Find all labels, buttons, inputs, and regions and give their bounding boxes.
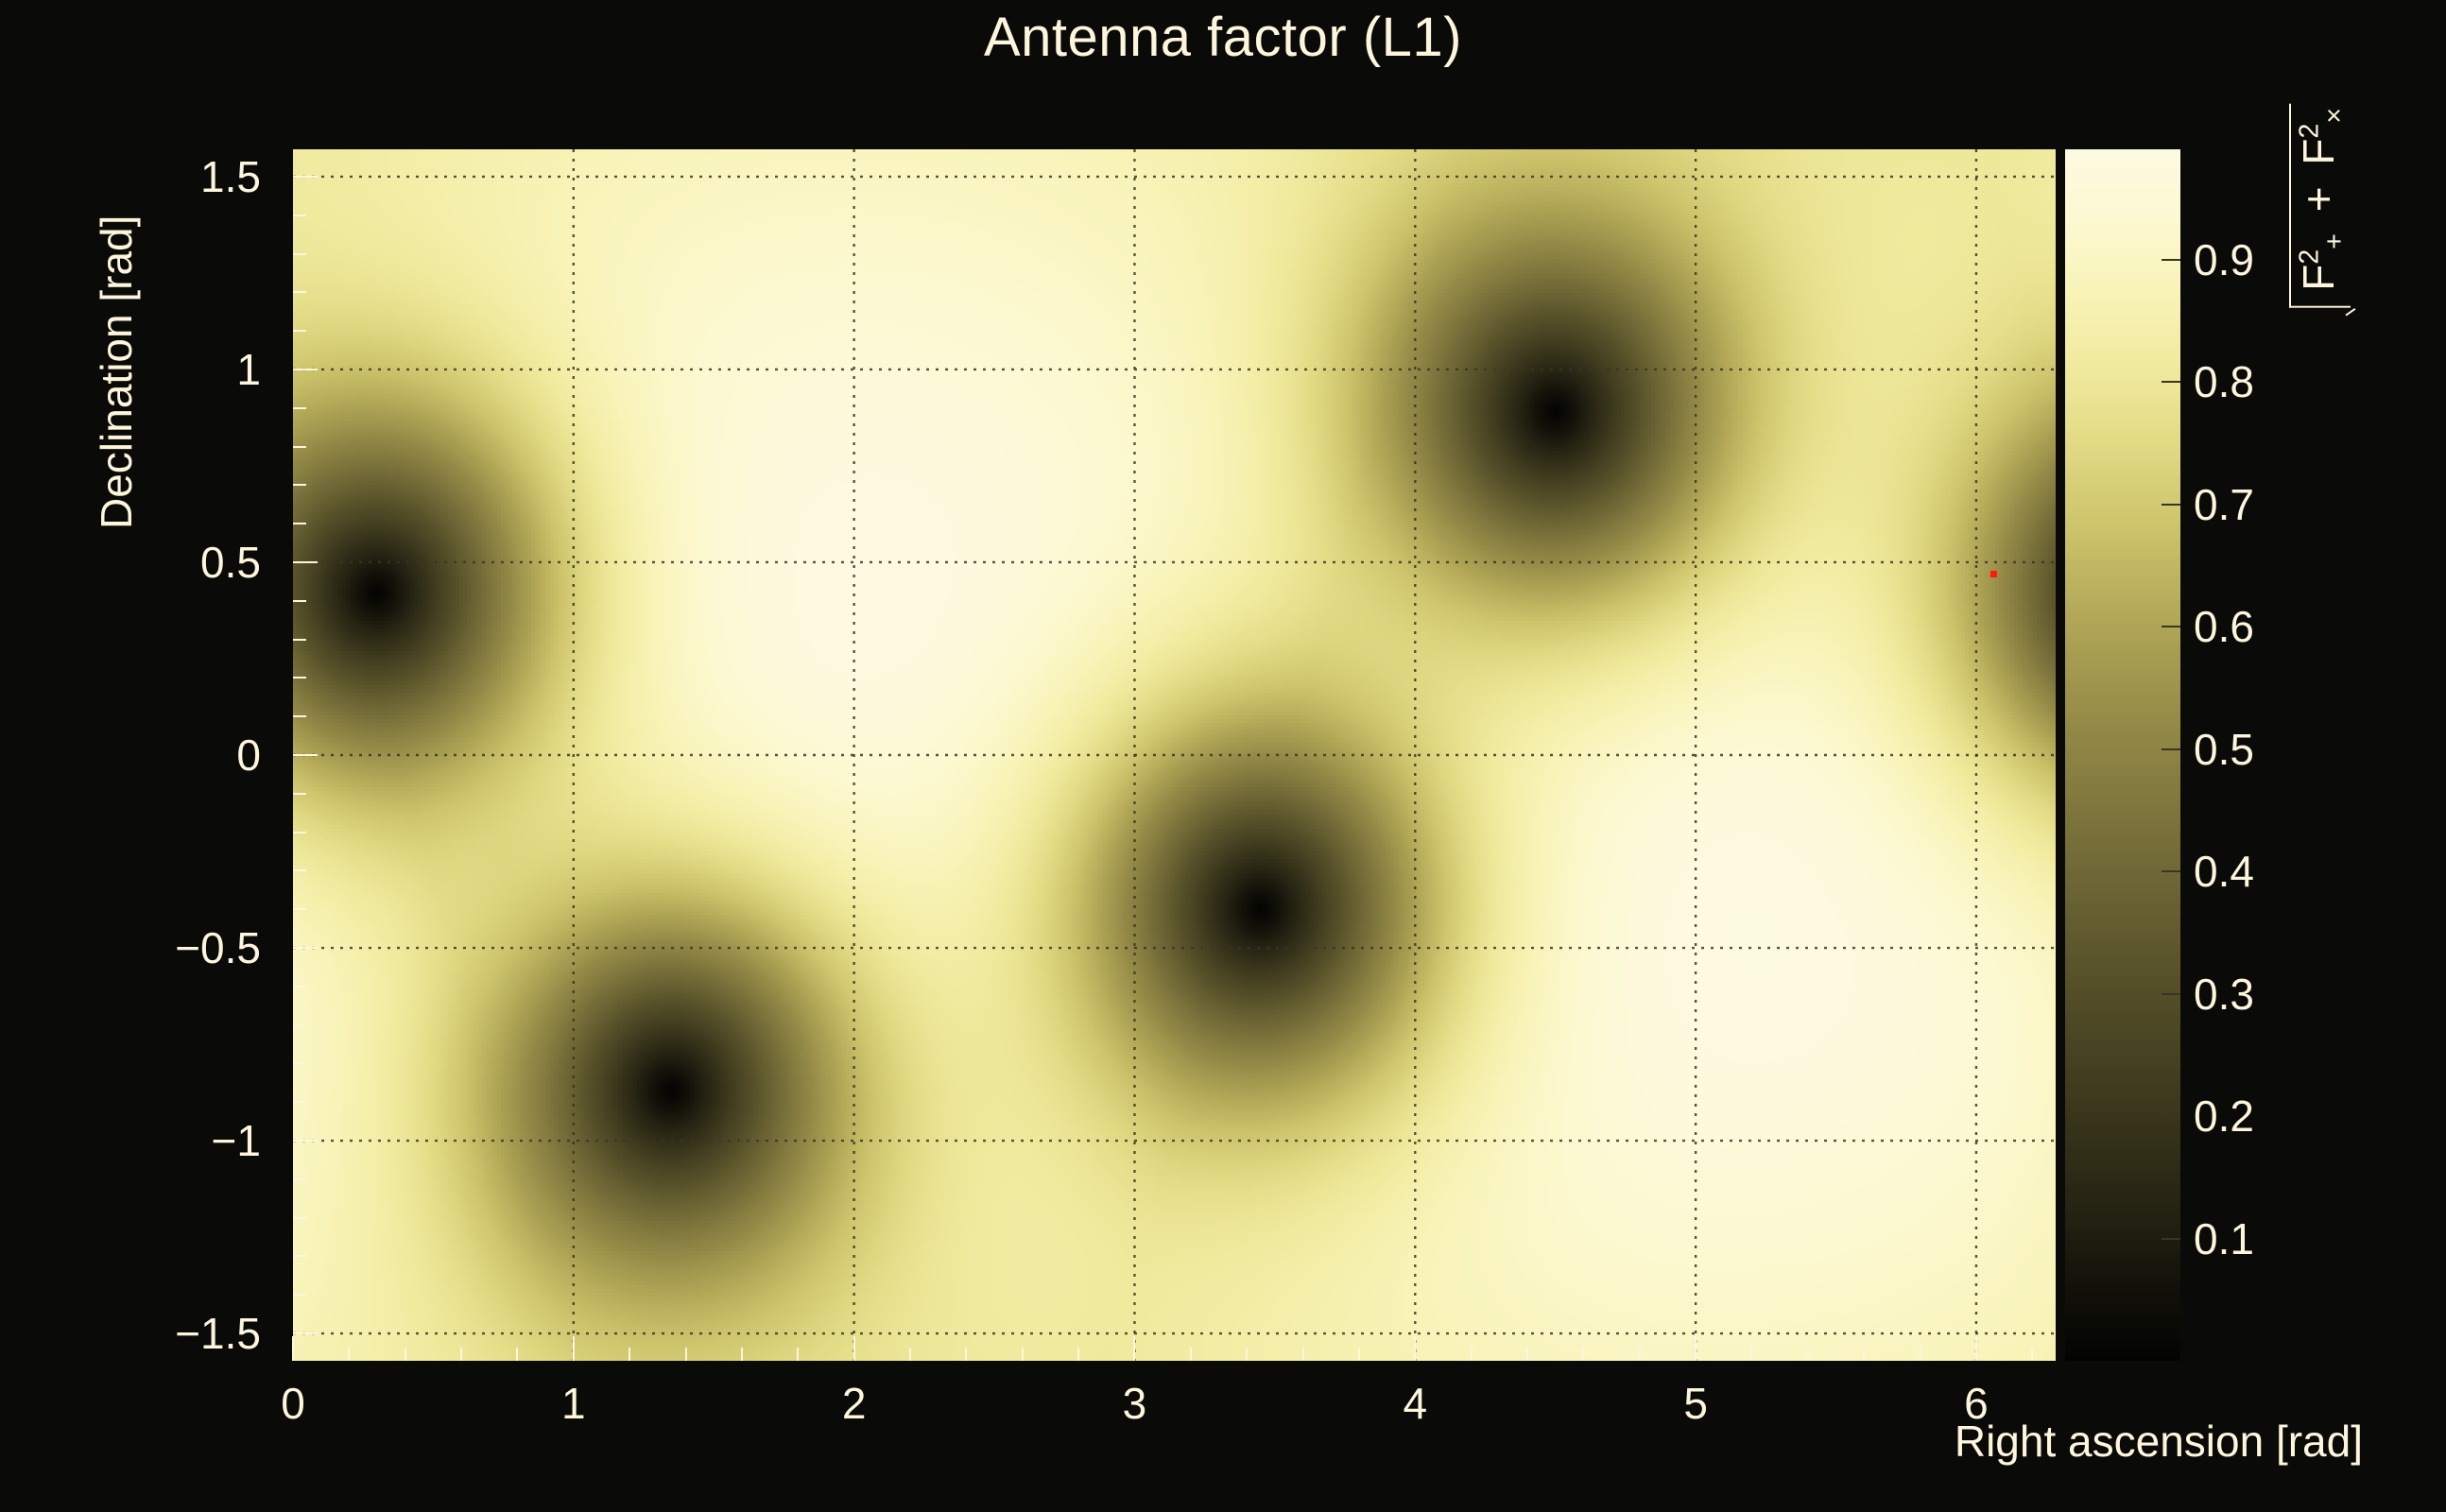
heatmap-image xyxy=(293,149,2056,1361)
y-axis-minor-tick xyxy=(293,291,306,293)
colorbar-axis-title: F2+ + F2× xyxy=(2287,104,2352,316)
y-axis-minor-tick xyxy=(293,908,306,910)
x-axis-tick-label: 5 xyxy=(1683,1378,1708,1429)
x-axis-minor-tick xyxy=(685,1348,687,1361)
y-axis-minor-tick xyxy=(293,484,306,486)
y-axis-title: Declination [rad] xyxy=(91,215,142,529)
y-axis-minor-tick xyxy=(293,639,306,641)
x-axis-minor-tick xyxy=(1077,1348,1079,1361)
f-cross-term: F2× xyxy=(2293,108,2351,165)
x-axis-tick-label: 2 xyxy=(842,1378,867,1429)
x-axis-tick-label: 1 xyxy=(561,1378,586,1429)
y-axis-minor-tick xyxy=(293,1178,306,1180)
x-axis-minor-tick xyxy=(1190,1348,1192,1361)
colorbar-tick-label: 0.9 xyxy=(2194,234,2254,285)
x-axis-minor-tick xyxy=(741,1348,743,1361)
x-axis-minor-tick xyxy=(460,1348,462,1361)
colorbar-tick-label: 0.4 xyxy=(2194,846,2254,897)
x-axis-tick xyxy=(1133,1336,1135,1361)
x-axis-tick-label: 4 xyxy=(1403,1378,1427,1429)
f-cross-exponent: 2 xyxy=(2295,124,2325,139)
y-axis-tick-label: −0.5 xyxy=(81,922,261,973)
x-axis-minor-tick xyxy=(909,1348,911,1361)
x-axis-tick xyxy=(1695,1336,1697,1361)
x-axis-minor-tick xyxy=(797,1348,799,1361)
x-axis-minor-tick xyxy=(1526,1348,1528,1361)
colorbar-tick-label: 0.7 xyxy=(2194,479,2254,530)
y-axis-tick-label: 1.5 xyxy=(81,151,261,202)
y-axis-minor-tick xyxy=(293,1255,306,1257)
y-axis-minor-tick xyxy=(293,677,306,679)
f-plus-exponent: 2 xyxy=(2295,249,2325,265)
colorbar-tick xyxy=(2162,748,2180,750)
x-axis-minor-tick xyxy=(965,1348,967,1361)
y-axis-minor-tick xyxy=(293,1101,306,1103)
y-axis-minor-tick xyxy=(293,1294,306,1296)
colorbar-tick-label: 0.6 xyxy=(2194,601,2254,652)
x-axis-minor-tick xyxy=(348,1348,350,1361)
y-axis-minor-tick xyxy=(293,407,306,409)
x-axis-minor-tick xyxy=(1582,1348,1584,1361)
page-title: Antenna factor (L1) xyxy=(0,6,2446,69)
colorbar-tick-label: 0.8 xyxy=(2194,356,2254,407)
x-axis-minor-tick xyxy=(1807,1348,1809,1361)
y-axis-minor-tick xyxy=(293,1062,306,1064)
sqrt-radical-icon: F2+ + F2× xyxy=(2287,104,2352,316)
y-axis-minor-tick xyxy=(293,330,306,332)
root-canvas: Antenna factor (L1) 1.510.50−0.5−1−1.501… xyxy=(0,0,2446,1512)
x-axis-minor-tick xyxy=(629,1348,630,1361)
radical-tick-icon xyxy=(2346,308,2356,317)
y-axis-tick xyxy=(293,754,318,756)
y-axis-tick xyxy=(293,369,318,370)
x-axis-minor-tick xyxy=(1639,1348,1641,1361)
x-axis-tick xyxy=(292,1336,294,1361)
y-axis-tick-label: 0.5 xyxy=(81,537,261,588)
y-axis-tick xyxy=(293,561,318,563)
colorbar-tick-label: 0.2 xyxy=(2194,1091,2254,1142)
plus-operator: + xyxy=(2293,186,2344,212)
y-axis-minor-tick xyxy=(293,523,306,524)
f-cross-symbol: F xyxy=(2294,139,2343,165)
x-axis-minor-tick xyxy=(1920,1348,1921,1361)
x-axis-minor-tick xyxy=(1246,1348,1248,1361)
x-axis-tick xyxy=(853,1336,855,1361)
y-axis-tick xyxy=(293,176,318,178)
x-axis-minor-tick xyxy=(1302,1348,1304,1361)
y-axis-tick xyxy=(293,1140,318,1142)
x-axis-title: Right ascension [rad] xyxy=(1955,1416,2363,1467)
y-axis-minor-tick xyxy=(293,253,306,255)
f-plus-subscript: + xyxy=(2319,233,2350,249)
x-axis-tick xyxy=(1414,1336,1416,1361)
x-axis-minor-tick xyxy=(1022,1348,1024,1361)
colorbar-tick xyxy=(2162,381,2180,383)
y-axis-minor-tick xyxy=(293,986,306,988)
f-plus-term: F2+ xyxy=(2293,233,2351,291)
x-axis-minor-tick xyxy=(516,1348,518,1361)
x-axis-minor-tick xyxy=(405,1348,406,1361)
heatmap-plot-area[interactable] xyxy=(293,149,2056,1361)
y-axis-minor-tick xyxy=(293,793,306,795)
colorbar-tick xyxy=(2162,259,2180,261)
colorbar[interactable]: 0.90.80.70.60.50.40.30.20.1 xyxy=(2065,149,2180,1361)
colorbar-tick-label: 0.3 xyxy=(2194,969,2254,1020)
y-axis-tick-label: −1.5 xyxy=(81,1308,261,1359)
y-axis-minor-tick xyxy=(293,600,306,602)
x-axis-minor-tick xyxy=(1863,1348,1865,1361)
y-axis-minor-tick xyxy=(293,446,306,448)
colorbar-tick-label: 0.5 xyxy=(2194,724,2254,775)
colorbar-tick-label: 0.1 xyxy=(2194,1213,2254,1264)
x-axis-tick-label: 3 xyxy=(1123,1378,1147,1429)
x-axis-minor-tick xyxy=(2031,1348,2033,1361)
y-axis-minor-tick xyxy=(293,1024,306,1026)
x-axis-minor-tick xyxy=(1358,1348,1360,1361)
y-axis-minor-tick xyxy=(293,832,306,833)
f-cross-subscript: × xyxy=(2319,108,2350,124)
colorbar-tick-marks: 0.90.80.70.60.50.40.30.20.1 xyxy=(2065,149,2180,1361)
x-axis-minor-tick xyxy=(1471,1348,1473,1361)
x-axis-tick xyxy=(573,1336,575,1361)
colorbar-tick xyxy=(2162,504,2180,506)
colorbar-tick xyxy=(2162,993,2180,995)
y-axis-minor-tick xyxy=(293,869,306,871)
x-axis-tick-label: 0 xyxy=(281,1378,305,1429)
f-plus-symbol: F xyxy=(2294,265,2343,291)
y-axis-tick-label: −1 xyxy=(81,1115,261,1166)
y-axis-tick xyxy=(293,1332,318,1334)
colorbar-tick xyxy=(2162,870,2180,872)
x-axis-tick xyxy=(1975,1336,1977,1361)
y-axis-minor-tick xyxy=(293,215,306,216)
y-axis-minor-tick xyxy=(293,1217,306,1219)
colorbar-tick xyxy=(2162,1238,2180,1240)
x-axis-minor-tick xyxy=(1750,1348,1752,1361)
colorbar-tick xyxy=(2162,626,2180,627)
y-axis-minor-tick xyxy=(293,715,306,717)
y-axis-tick xyxy=(293,947,318,949)
y-axis-tick-label: 0 xyxy=(81,730,261,781)
colorbar-tick xyxy=(2162,1115,2180,1117)
